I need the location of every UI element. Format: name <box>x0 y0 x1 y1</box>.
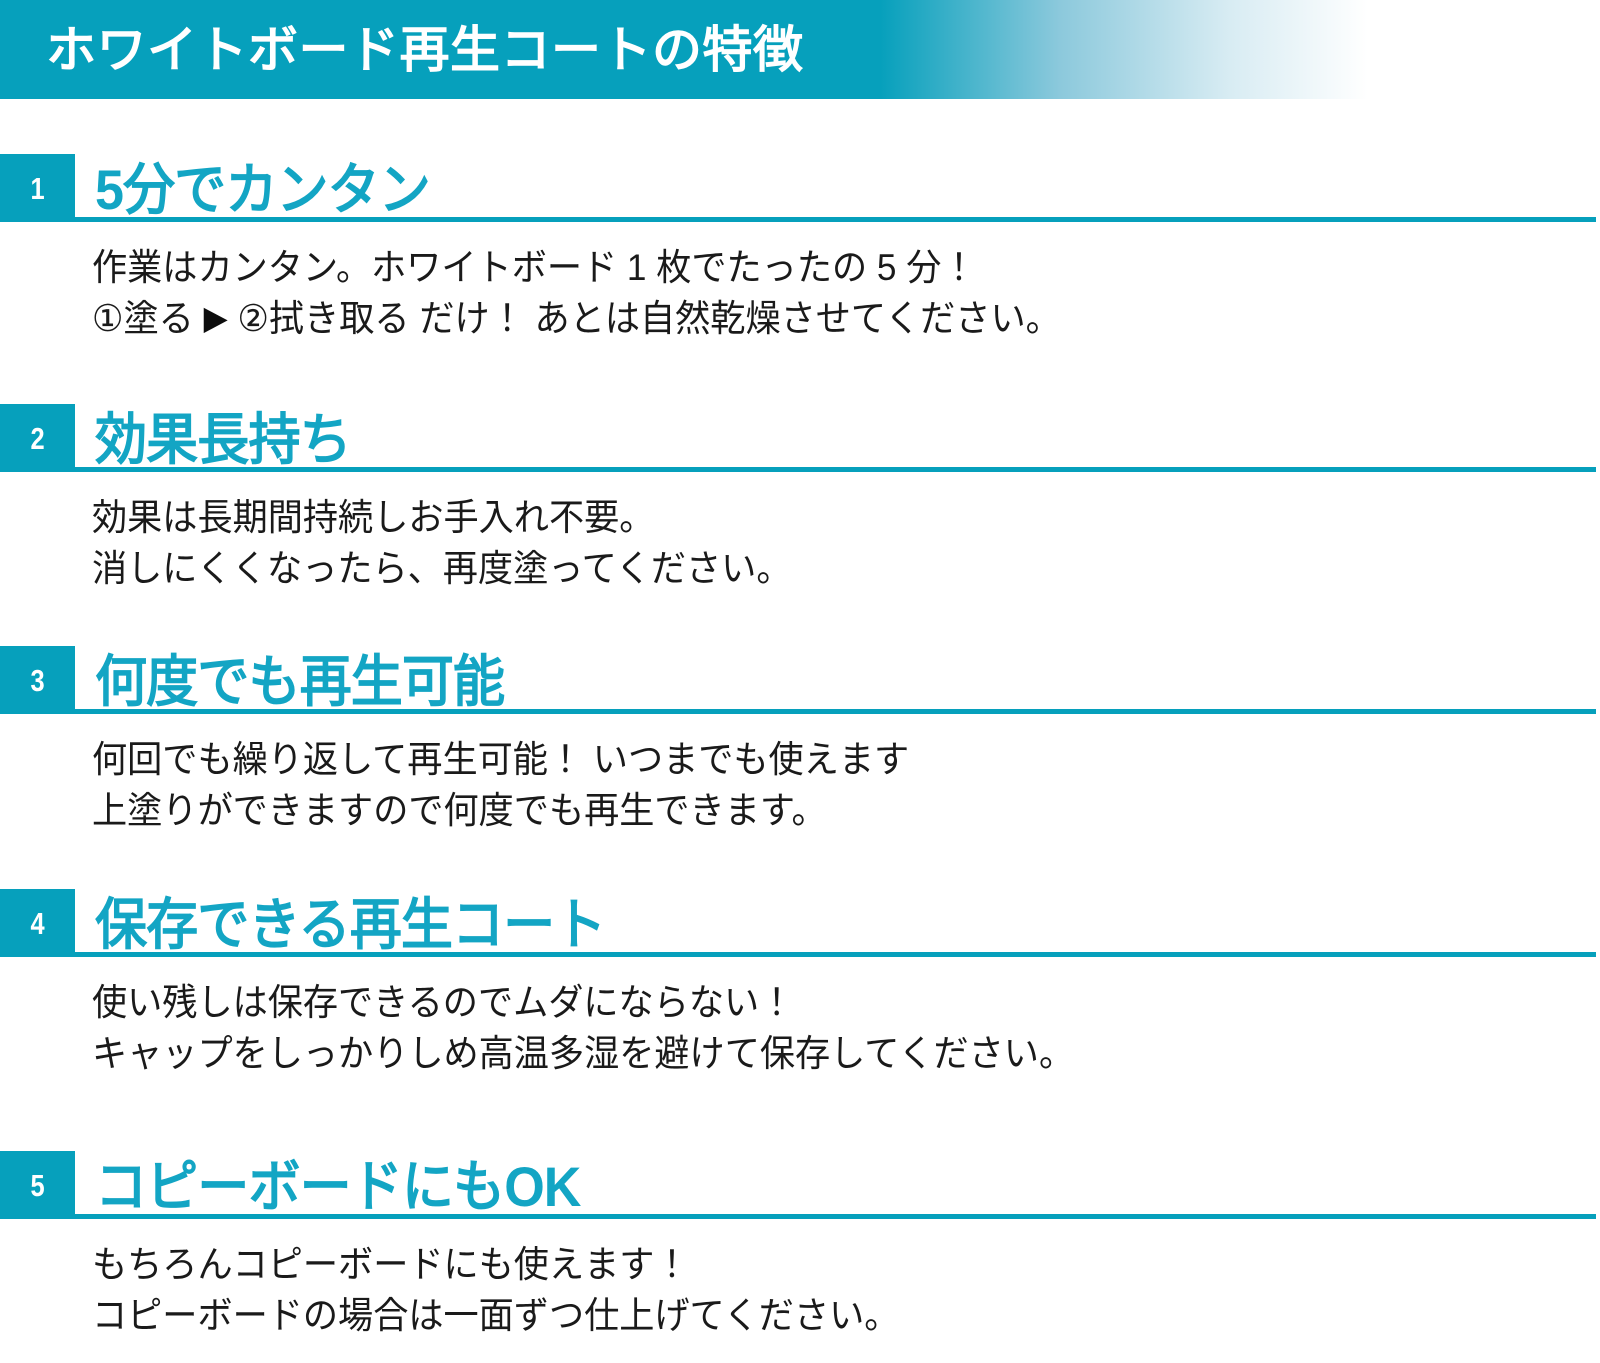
section-heading: 5分でカンタン <box>95 162 430 218</box>
feature-section-3: 3 何度でも再生可能 何回でも繰り返して再生可能！ いつまでも使えます 上塗りが… <box>0 642 1600 714</box>
section-header-row: 2 効果長持ち <box>0 400 1600 472</box>
feature-section-2: 2 効果長持ち 効果は長期間持続しお手入れ不要。 消しにくくなったら、再度塗って… <box>0 400 1600 472</box>
section-body-text: 効果は長期間持続しお手入れ不要。 消しにくくなったら、再度塗ってください。 <box>92 492 791 594</box>
section-number-badge: 5 <box>0 1151 75 1219</box>
section-heading: 保存できる再生コート <box>95 897 605 953</box>
section-header-row: 3 何度でも再生可能 <box>0 642 1600 714</box>
section-number-badge: 3 <box>0 646 75 714</box>
section-body-text: もちろんコピーボードにも使えます！ コピーボードの場合は一面ずつ仕上げてください… <box>92 1239 899 1341</box>
body-line-1: 効果は長期間持続しお手入れ不要。 <box>92 492 791 543</box>
section-heading: コピーボードにもOK <box>95 1159 580 1215</box>
feature-section-1: 1 5分でカンタン 作業はカンタン。ホワイトボード 1 枚でたったの 5 分！ … <box>0 150 1600 222</box>
feature-section-4: 4 保存できる再生コート 使い残しは保存できるのでムダにならない！ キャップをし… <box>0 885 1600 957</box>
section-heading: 効果長持ち <box>95 412 351 468</box>
section-number-label: 4 <box>30 908 44 939</box>
body-step-two: ②拭き取る だけ！ あとは自然乾燥させてください。 <box>228 298 1061 339</box>
section-header-row: 4 保存できる再生コート <box>0 885 1600 957</box>
section-number-label: 5 <box>30 1170 44 1201</box>
body-line-2: キャップをしっかりしめ高温多湿を避けて保存してください。 <box>92 1028 1074 1079</box>
section-number-label: 1 <box>30 173 44 204</box>
section-number-badge: 1 <box>0 154 75 222</box>
section-header-row: 5 コピーボードにもOK <box>0 1147 1600 1219</box>
body-line-2: 消しにくくなったら、再度塗ってください。 <box>92 543 791 594</box>
body-line-2: コピーボードの場合は一面ずつ仕上げてください。 <box>92 1290 899 1341</box>
section-number-badge: 2 <box>0 404 75 472</box>
section-number-label: 3 <box>30 665 44 696</box>
body-line-2: ①塗る ▶ ②拭き取る だけ！ あとは自然乾燥させてください。 <box>92 293 1061 344</box>
section-header-row: 1 5分でカンタン <box>0 150 1600 222</box>
header-banner: ホワイトボード再生コートの特徴 <box>0 0 1600 99</box>
body-line-2: 上塗りができますので何度でも再生できます。 <box>92 785 909 836</box>
section-body-text: 使い残しは保存できるのでムダにならない！ キャップをしっかりしめ高温多湿を避けて… <box>92 977 1074 1079</box>
body-line-1: 何回でも繰り返して再生可能！ いつまでも使えます <box>92 734 909 785</box>
feature-section-5: 5 コピーボードにもOK もちろんコピーボードにも使えます！ コピーボードの場合… <box>0 1147 1600 1219</box>
section-body-text: 何回でも繰り返して再生可能！ いつまでも使えます 上塗りができますので何度でも再… <box>92 734 909 836</box>
body-step-one: ①塗る <box>92 298 204 339</box>
page-title: ホワイトボード再生コートの特徴 <box>46 25 804 75</box>
section-body-text: 作業はカンタン。ホワイトボード 1 枚でたったの 5 分！ ①塗る ▶ ②拭き取… <box>92 242 1061 344</box>
section-heading: 何度でも再生可能 <box>95 654 504 710</box>
section-number-badge: 4 <box>0 889 75 957</box>
body-line-1: もちろんコピーボードにも使えます！ <box>92 1239 899 1290</box>
body-line-1: 使い残しは保存できるのでムダにならない！ <box>92 977 1074 1028</box>
section-number-label: 2 <box>30 423 44 454</box>
body-line-1: 作業はカンタン。ホワイトボード 1 枚でたったの 5 分！ <box>92 242 1061 293</box>
play-triangle-icon: ▶ <box>204 295 228 341</box>
